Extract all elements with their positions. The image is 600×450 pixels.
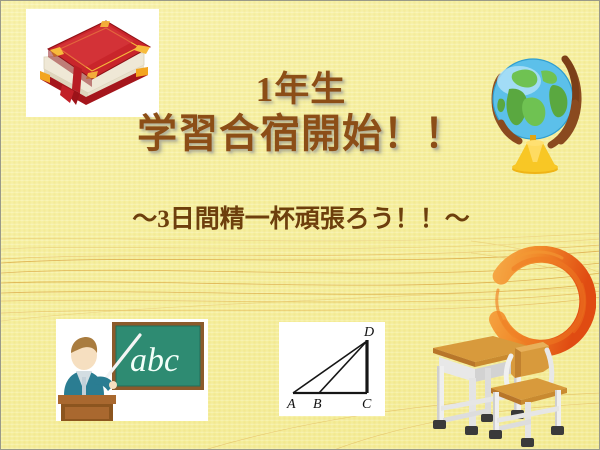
triangle-geometry-icon: A B C D <box>279 322 385 416</box>
headline-block: 1年生 学習合宿開始！！ <box>71 69 531 159</box>
teacher-at-blackboard-icon: abc <box>56 319 208 421</box>
geo-label-b: B <box>313 397 322 412</box>
geometry-diagram-card: A B C D <box>279 322 385 416</box>
blackboard-text: abc <box>130 342 179 379</box>
desk-and-chair-image <box>419 326 579 448</box>
teacher-blackboard-card: abc <box>56 319 208 421</box>
poster-canvas: abc A <box>0 0 600 450</box>
geo-label-a: A <box>286 397 296 412</box>
geo-label-d: D <box>363 325 374 340</box>
subtitle-text: 〜3日間精一杯頑張ろう！！〜 <box>51 199 551 235</box>
geo-label-c: C <box>362 397 372 412</box>
headline-line-1: 1年生 <box>71 69 531 110</box>
school-desk-chair-icon <box>419 326 579 448</box>
headline-line-2: 学習合宿開始！！ <box>71 110 531 159</box>
